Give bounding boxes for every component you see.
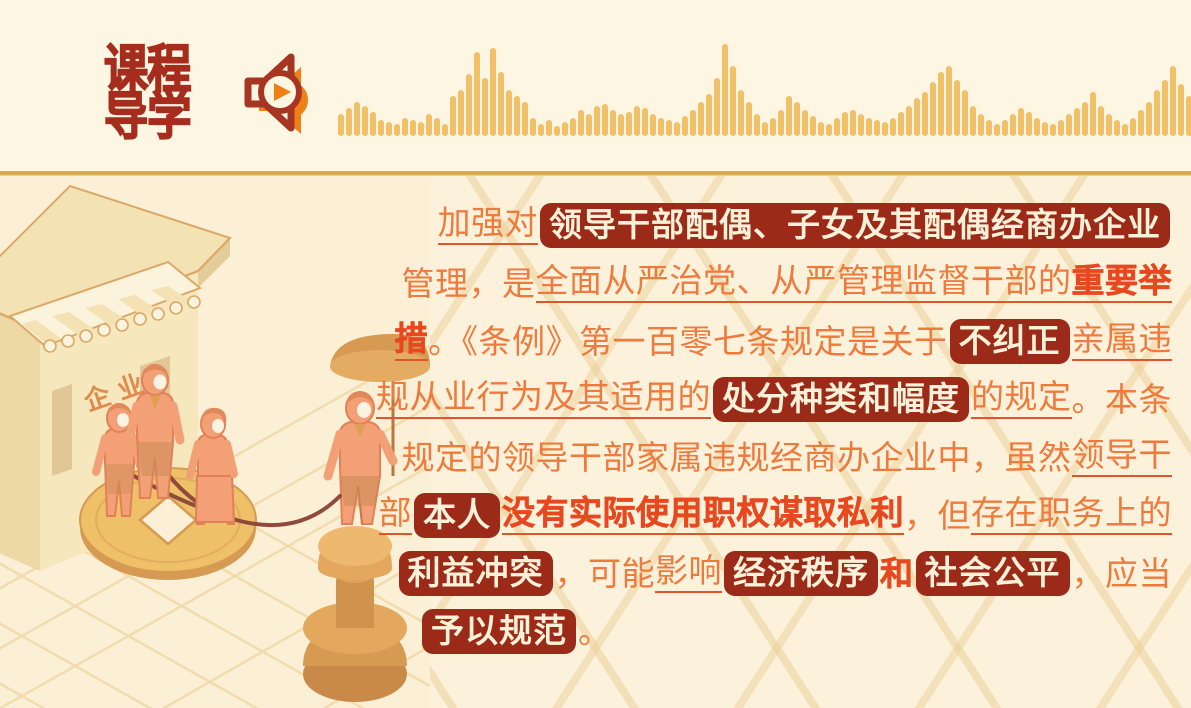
waveform-bar [1026, 112, 1032, 136]
text-segment: 领导干 [1072, 438, 1173, 477]
waveform-bar [434, 118, 440, 136]
waveform-bar [1162, 80, 1168, 136]
page-root: 课程 导学 [0, 0, 1191, 708]
waveform-bar [346, 108, 352, 136]
waveform-bar [1066, 114, 1072, 136]
waveform-bar [666, 120, 672, 136]
text-segment: 管理，是 [402, 267, 536, 300]
waveform-bar [450, 96, 456, 136]
waveform-bar [1082, 102, 1088, 136]
waveform-bar [378, 120, 384, 136]
waveform-bar [802, 110, 808, 136]
waveform-bar [618, 114, 624, 136]
waveform-bar [626, 112, 632, 136]
waveform-bar [682, 116, 688, 136]
waveform-bar [442, 124, 448, 136]
waveform-bar [1042, 122, 1048, 136]
waveform-bar [530, 118, 536, 136]
highlight-badge: 经济秩序 [724, 551, 878, 596]
text-segment: 部 [379, 496, 413, 535]
highlight-badge: 利益冲突 [399, 551, 553, 596]
audio-waveform[interactable] [338, 22, 1150, 136]
waveform-bar [554, 126, 560, 136]
text-segment: 存在职务上的 [971, 496, 1172, 535]
waveform-bar [962, 90, 968, 136]
text-segment: 加强对 [438, 206, 539, 245]
waveform-bar [522, 102, 528, 136]
text-segment: 重要举 [1072, 264, 1173, 303]
waveform-bar [570, 118, 576, 136]
waveform-bar [674, 122, 680, 136]
text-line: 予以规范。 [420, 602, 1172, 660]
text-segment: 。本条 [1072, 383, 1173, 416]
text-segment: 全面从严治党、从严管理监督干部的 [536, 264, 1072, 303]
text-segment: 的规定 [971, 380, 1072, 419]
waveform-bar [810, 116, 816, 136]
waveform-bar [1058, 120, 1064, 136]
waveform-bar [754, 114, 760, 136]
text-line: 措。《条例》第一百零七条规定是关于不纠正亲属违 [420, 312, 1172, 370]
waveform-bar [1130, 118, 1136, 136]
waveform-bar [1018, 108, 1024, 136]
waveform-bar [698, 102, 704, 136]
waveform-bar [418, 122, 424, 136]
header-bar: 课程 导学 [0, 0, 1191, 174]
text-segment: 影响 [655, 554, 722, 593]
waveform-bar [1098, 106, 1104, 136]
waveform-bar [1010, 114, 1016, 136]
text-segment: 规从业行为及其适用的 [376, 380, 711, 419]
speaker-play-icon-svg [236, 50, 328, 142]
waveform-bar [714, 78, 720, 136]
waveform-bar [658, 118, 664, 136]
waveform-bar [498, 72, 504, 136]
waveform-bar [946, 66, 952, 136]
waveform-bar [1122, 124, 1128, 136]
text-segment: 和 [880, 557, 914, 590]
waveform-bar [402, 118, 408, 136]
waveform-bar [354, 102, 360, 136]
waveform-bar [426, 114, 432, 136]
article-text: 加强对领导干部配偶、子女及其配偶经商办企业管理，是全面从严治党、从严管理监督干部… [420, 196, 1172, 696]
text-line: 部本人没有实际使用职权谋取私利，但存在职务上的 [420, 486, 1172, 544]
waveform-bar [1170, 66, 1176, 136]
waveform-bar [458, 90, 464, 136]
waveform-bar [938, 72, 944, 136]
illustration-svg: 企 业 [0, 176, 430, 708]
text-line: 管理，是全面从严治党、从严管理监督干部的重要举 [420, 254, 1172, 312]
highlight-badge: 不纠正 [950, 319, 1070, 364]
highlight-badge: 社会公平 [916, 551, 1070, 596]
text-segment: ，但 [904, 499, 971, 532]
waveform-bar [850, 110, 856, 136]
waveform-bar [890, 118, 896, 136]
page-title-line-2: 导学 [104, 92, 207, 143]
waveform-bar [338, 114, 344, 136]
waveform-bar [514, 96, 520, 136]
waveform-bar [690, 110, 696, 136]
waveform-bar [786, 96, 792, 136]
waveform-bar [834, 118, 840, 136]
waveform-bar [1114, 120, 1120, 136]
waveform-bar [594, 106, 600, 136]
waveform-bar [778, 110, 784, 136]
waveform-bar [794, 102, 800, 136]
waveform-bar [1050, 124, 1056, 136]
page-title: 课程 导学 [104, 42, 216, 146]
waveform-bar [1074, 108, 1080, 136]
waveform-bar [1138, 110, 1144, 136]
waveform-bar [642, 108, 648, 136]
speaker-play-icon[interactable] [236, 50, 328, 142]
waveform-bar [370, 112, 376, 136]
text-line: 规定的领导干部家属违规经商办企业中，虽然领导干 [420, 428, 1172, 486]
waveform-bar [586, 114, 592, 136]
waveform-bar [882, 122, 888, 136]
waveform-bar [602, 104, 608, 136]
highlight-badge: 领导干部配偶、子女及其配偶经商办企业 [540, 203, 1170, 248]
highlight-badge: 本人 [414, 493, 500, 538]
waveform-bar [970, 106, 976, 136]
waveform-bar [490, 48, 496, 136]
text-segment: 。 [578, 615, 612, 648]
waveform-bar [898, 112, 904, 136]
waveform-bar [906, 106, 912, 136]
waveform-bar [922, 92, 928, 136]
highlight-badge: 处分种类和幅度 [713, 377, 969, 422]
waveform-bar [1178, 84, 1184, 136]
waveform-bar [842, 112, 848, 136]
waveform-bar [866, 118, 872, 136]
waveform-bar [578, 110, 584, 136]
waveform-bar [738, 90, 744, 136]
waveform-bar [562, 122, 568, 136]
waveform-bar [546, 120, 552, 136]
waveform-bar [954, 80, 960, 136]
waveform-bar [874, 120, 880, 136]
text-segment: ，可能 [555, 557, 656, 590]
waveform-bar [1034, 118, 1040, 136]
waveform-bar [770, 118, 776, 136]
highlight-badge: 予以规范 [422, 609, 576, 654]
text-line: 利益冲突，可能影响经济秩序和社会公平，应当 [420, 544, 1172, 602]
waveform-bar [410, 120, 416, 136]
text-segment: ，应当 [1072, 557, 1173, 590]
waveform-bar [1090, 92, 1096, 136]
waveform-bar [1002, 120, 1008, 136]
text-segment: 没有实际使用职权谋取私利 [502, 496, 904, 535]
waveform-bar [706, 94, 712, 136]
waveform-bar [362, 106, 368, 136]
waveform-bar [762, 122, 768, 136]
waveform-bar [914, 98, 920, 136]
waveform-bar [1154, 90, 1160, 136]
waveform-bar [978, 114, 984, 136]
waveform-bar [858, 114, 864, 136]
text-segment: 规定的领导干部家属违规经商办企业中，虽然 [402, 441, 1072, 474]
waveform-bar [994, 124, 1000, 136]
waveform-bar [538, 124, 544, 136]
waveform-bar [930, 82, 936, 136]
waveform-bar [818, 122, 824, 136]
waveform-bar [394, 124, 400, 136]
text-segment: 。《条例》第一百零七条规定是关于 [428, 325, 948, 358]
waveform-bar [1186, 96, 1191, 136]
waveform-bar [722, 44, 728, 136]
waveform-bar [1106, 114, 1112, 136]
waveform-bar [826, 124, 832, 136]
waveform-bar [650, 114, 656, 136]
waveform-bar [986, 120, 992, 136]
waveform-bar [506, 90, 512, 136]
waveform-bar [466, 74, 472, 136]
waveform-bar [1146, 102, 1152, 136]
waveform-bar [474, 52, 480, 136]
text-segment: 亲属违 [1072, 322, 1173, 361]
waveform-bar [634, 106, 640, 136]
text-segment: 措 [395, 322, 429, 361]
isometric-enterprise-illustration: 企 业 [0, 176, 430, 708]
text-line: 规从业行为及其适用的处分种类和幅度的规定。本条 [420, 370, 1172, 428]
waveform-bar [746, 102, 752, 136]
text-line: 加强对领导干部配偶、子女及其配偶经商办企业 [420, 196, 1172, 254]
waveform-bar [482, 78, 488, 136]
waveform-bar [610, 110, 616, 136]
waveform-bar [386, 122, 392, 136]
waveform-bar [730, 66, 736, 136]
